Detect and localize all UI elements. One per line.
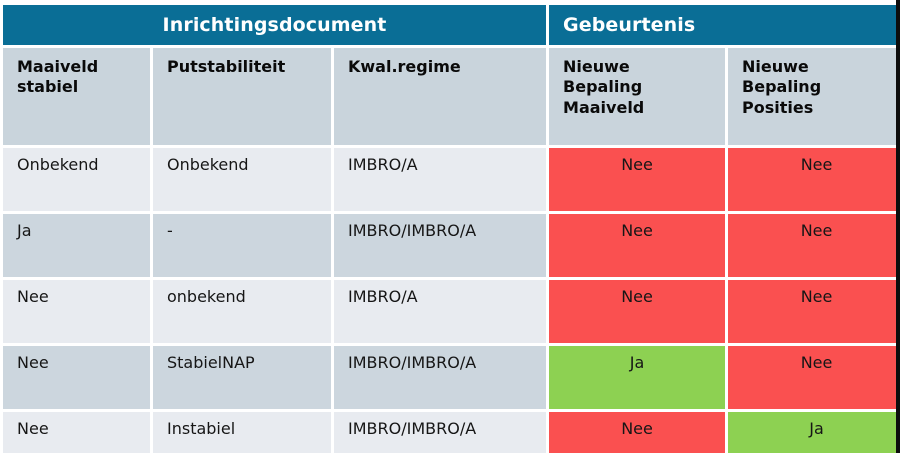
cell-maaiveld-stabiel: Nee xyxy=(3,346,150,409)
column-header-putstabiliteit: Putstabiliteit xyxy=(153,48,331,145)
cell-kwal-regime: IMBRO/IMBRO/A xyxy=(334,214,546,277)
cell-maaiveld-stabiel: Nee xyxy=(3,412,150,453)
cell-nieuwe-bepaling-maaiveld: Nee xyxy=(549,412,725,453)
column-header-nieuwe-bepaling-posities: Nieuwe Bepaling Posities xyxy=(728,48,900,145)
decision-table-container: Inrichtingsdocument Gebeurtenis Maaiveld… xyxy=(0,0,900,453)
cell-nieuwe-bepaling-posities: Ja xyxy=(728,412,900,453)
table-row: Nee Instabiel IMBRO/IMBRO/A Nee Ja xyxy=(3,412,900,453)
cell-putstabiliteit: onbekend xyxy=(153,280,331,343)
group-header-inrichtingsdocument: Inrichtingsdocument xyxy=(3,5,546,45)
table-row: Nee onbekend IMBRO/A Nee Nee xyxy=(3,280,900,343)
cell-nieuwe-bepaling-maaiveld: Ja xyxy=(549,346,725,409)
table-row: Nee StabielNAP IMBRO/IMBRO/A Ja Nee xyxy=(3,346,900,409)
column-header-kwal-regime: Kwal.regime xyxy=(334,48,546,145)
group-header-row: Inrichtingsdocument Gebeurtenis xyxy=(3,5,900,45)
table-row: Onbekend Onbekend IMBRO/A Nee Nee xyxy=(3,148,900,211)
cell-putstabiliteit: Onbekend xyxy=(153,148,331,211)
cell-nieuwe-bepaling-maaiveld: Nee xyxy=(549,214,725,277)
cell-kwal-regime: IMBRO/IMBRO/A xyxy=(334,346,546,409)
column-header-nieuwe-bepaling-maaiveld: Nieuwe Bepaling Maaiveld xyxy=(549,48,725,145)
decision-table: Inrichtingsdocument Gebeurtenis Maaiveld… xyxy=(0,2,900,453)
cell-nieuwe-bepaling-posities: Nee xyxy=(728,148,900,211)
cell-nieuwe-bepaling-posities: Nee xyxy=(728,280,900,343)
column-header-maaiveld-stabiel: Maaiveld stabiel xyxy=(3,48,150,145)
table-row: Ja - IMBRO/IMBRO/A Nee Nee xyxy=(3,214,900,277)
cell-maaiveld-stabiel: Nee xyxy=(3,280,150,343)
cell-kwal-regime: IMBRO/IMBRO/A xyxy=(334,412,546,453)
cell-kwal-regime: IMBRO/A xyxy=(334,280,546,343)
cell-putstabiliteit: - xyxy=(153,214,331,277)
cell-putstabiliteit: StabielNAP xyxy=(153,346,331,409)
cell-nieuwe-bepaling-maaiveld: Nee xyxy=(549,280,725,343)
cell-nieuwe-bepaling-maaiveld: Nee xyxy=(549,148,725,211)
cell-kwal-regime: IMBRO/A xyxy=(334,148,546,211)
cell-maaiveld-stabiel: Ja xyxy=(3,214,150,277)
cell-nieuwe-bepaling-posities: Nee xyxy=(728,214,900,277)
cell-maaiveld-stabiel: Onbekend xyxy=(3,148,150,211)
group-header-gebeurtenis: Gebeurtenis xyxy=(549,5,900,45)
cell-putstabiliteit: Instabiel xyxy=(153,412,331,453)
cell-nieuwe-bepaling-posities: Nee xyxy=(728,346,900,409)
column-header-row: Maaiveld stabiel Putstabiliteit Kwal.reg… xyxy=(3,48,900,145)
